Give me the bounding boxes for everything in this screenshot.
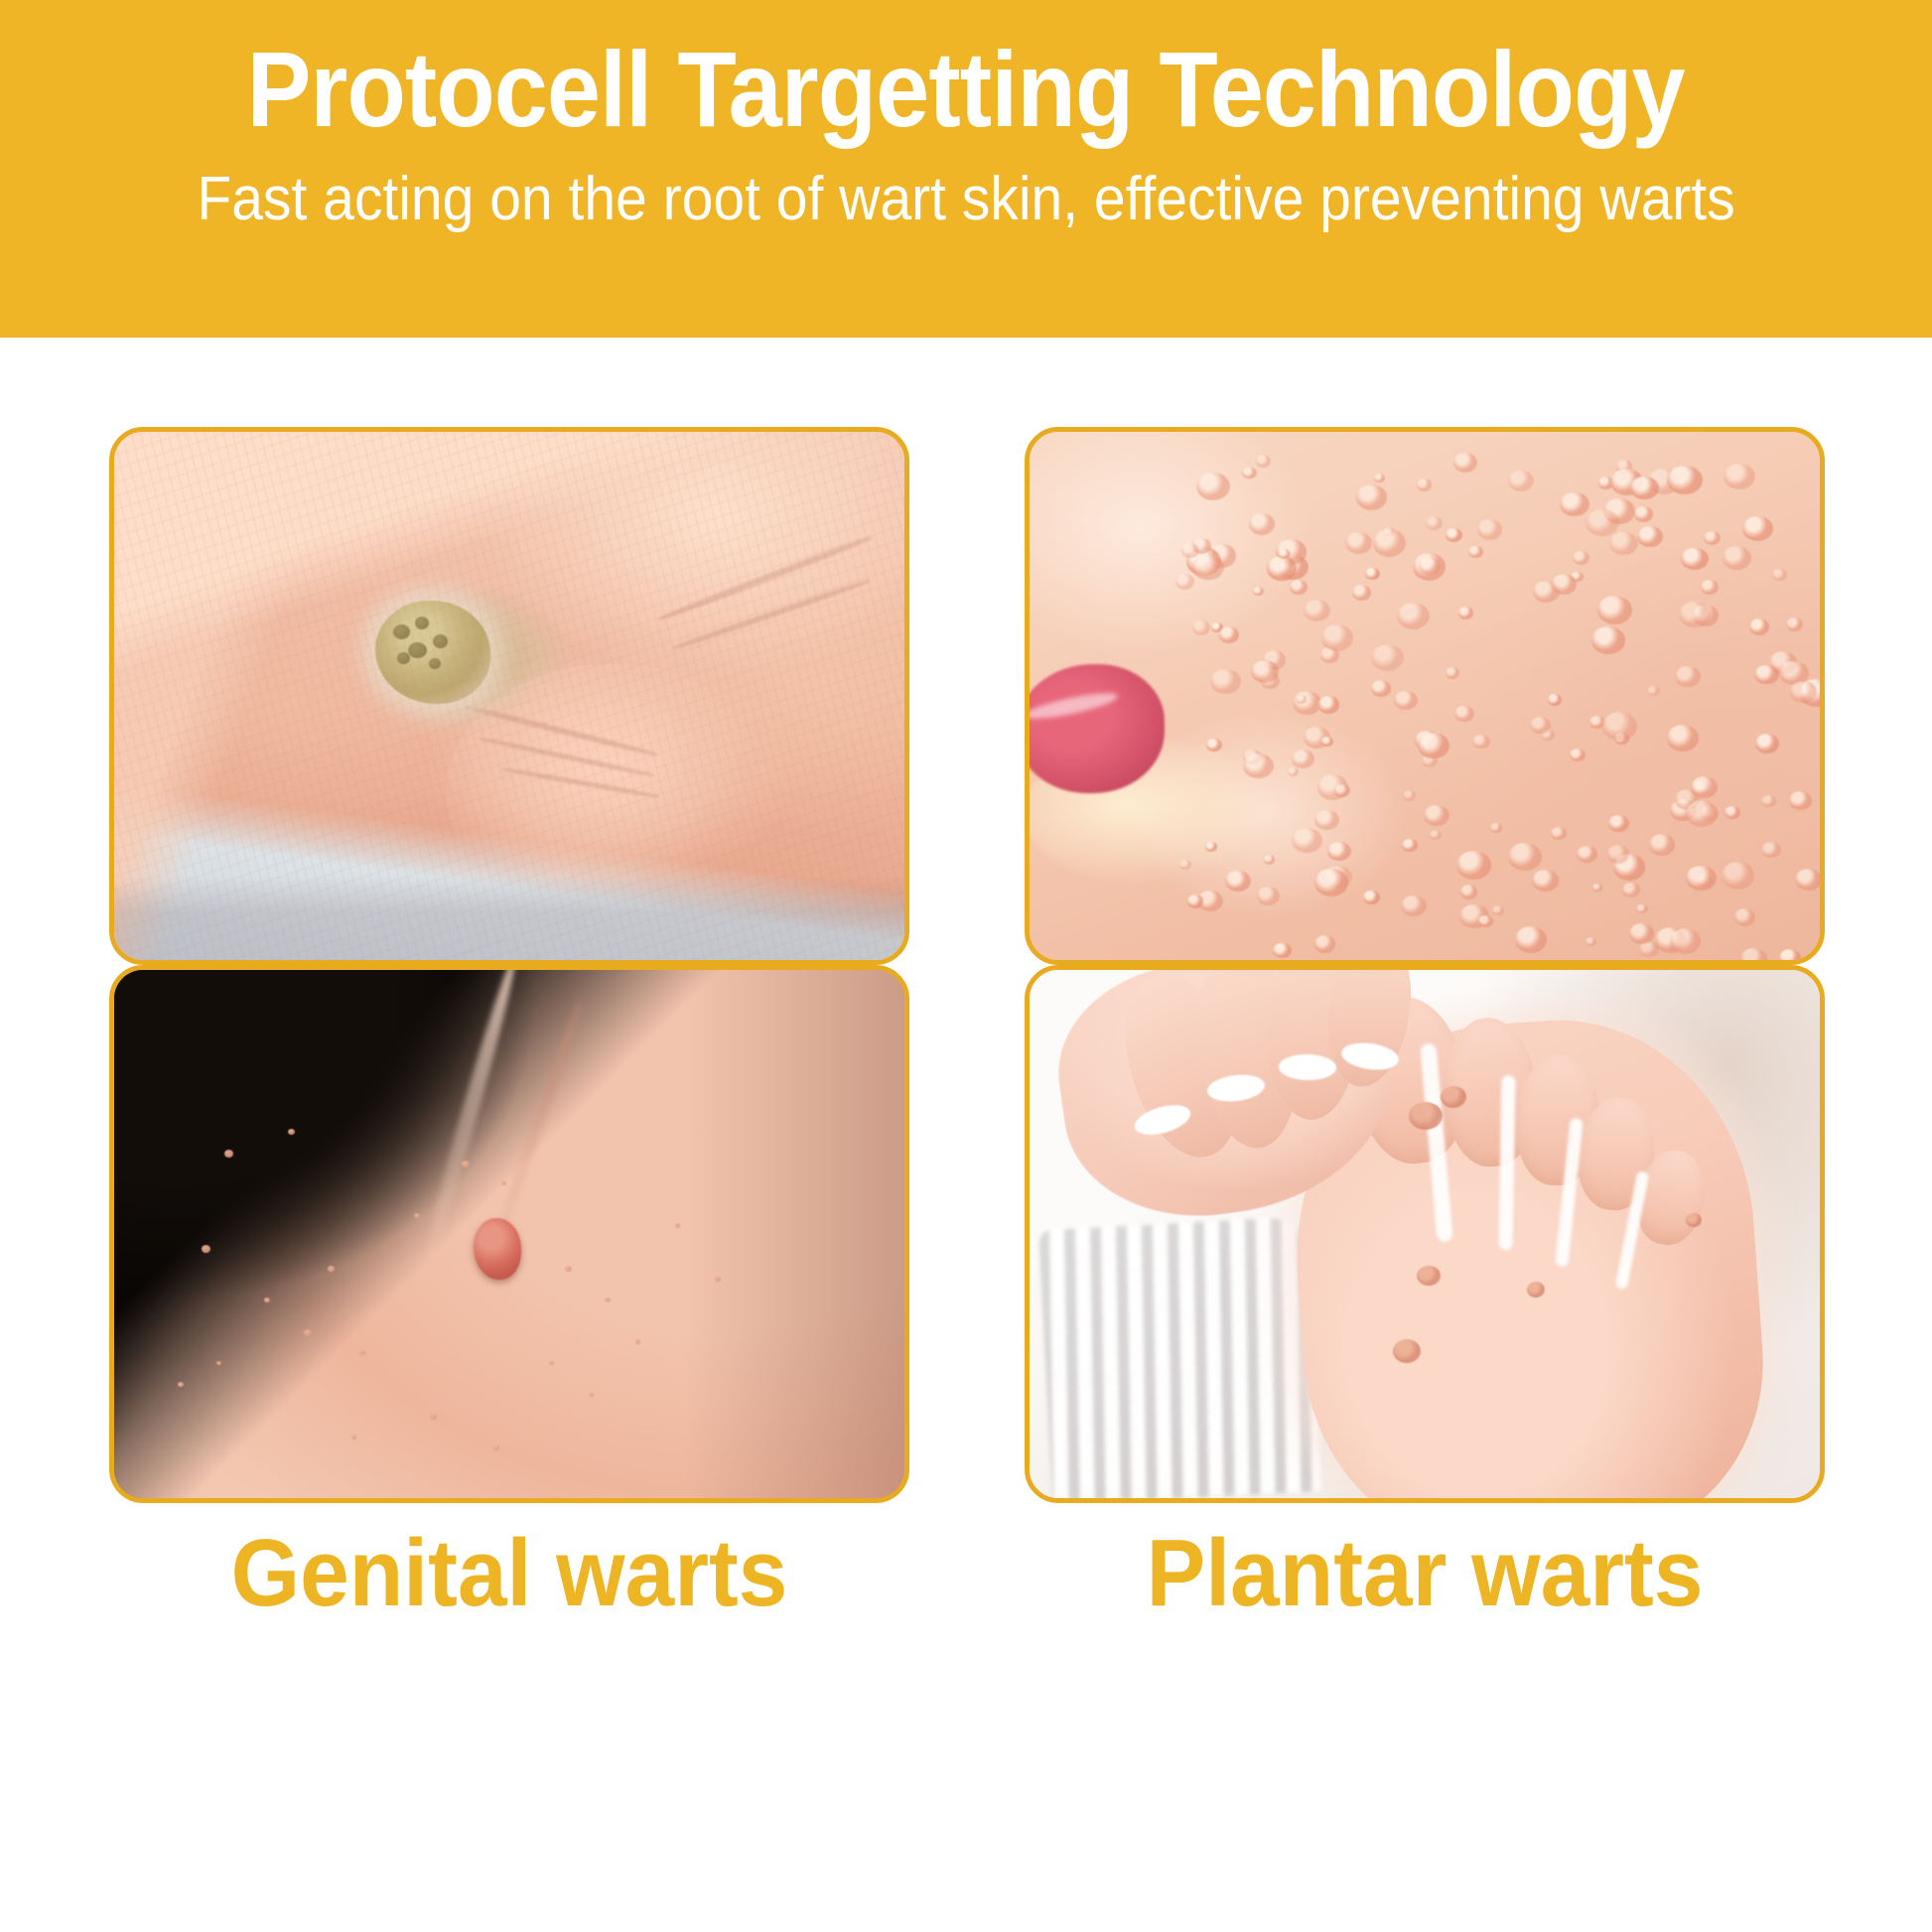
wart-lesion-marker <box>1740 948 1767 960</box>
skin-tag-marker <box>675 1223 680 1228</box>
wart-lesion-marker <box>1345 532 1372 554</box>
wart-lesion-marker <box>1417 1266 1441 1286</box>
wart-lesion-marker <box>1790 681 1816 703</box>
wart-lesion-marker <box>1609 532 1637 555</box>
wart-lesion-marker <box>1446 528 1462 542</box>
wart-lesion-marker <box>1264 855 1275 864</box>
wart-lesion-marker <box>1424 805 1449 826</box>
wart-lesion-marker <box>1418 733 1449 759</box>
wart-lesion-marker <box>1318 696 1339 713</box>
wart-lesion-marker <box>1560 492 1589 517</box>
wart-lesion-marker <box>1508 471 1534 492</box>
wart-lesion-marker <box>1637 526 1664 548</box>
wart-lesion-marker <box>1314 935 1336 953</box>
wart-lesion-marker <box>1636 904 1647 913</box>
wart-lesion-marker <box>1210 669 1241 694</box>
wart-lesion-marker <box>1649 834 1675 855</box>
wart-lesion-marker <box>1586 509 1619 537</box>
wart-lesion-marker <box>1592 884 1602 892</box>
wart-lesion-marker <box>1477 519 1502 539</box>
wart-lesion-marker <box>1670 928 1701 954</box>
wart-lesion-marker <box>1761 795 1776 807</box>
page-title: Protocell Targetting Technology <box>247 32 1685 148</box>
wart-lesion-marker <box>1701 580 1719 595</box>
wart-lesion-marker <box>1249 513 1275 535</box>
wart-lesion-marker <box>1419 557 1441 575</box>
wart-lesion-marker <box>1586 937 1596 946</box>
wart-lesion-marker <box>1257 887 1280 905</box>
skin-tag-marker <box>715 1277 721 1282</box>
lip-region <box>1030 664 1165 793</box>
wart-lesion-marker <box>1426 516 1443 530</box>
wart-lesion-marker <box>1206 739 1222 752</box>
wart-lesion-marker <box>1453 453 1477 473</box>
wart-lesion-marker <box>1570 749 1586 761</box>
wart-lesion-marker <box>1761 842 1781 859</box>
wart-lesion-marker <box>1772 569 1786 581</box>
image-card-plantar-warts[interactable] <box>1025 965 1825 1503</box>
wart-lesion-marker <box>1686 866 1716 891</box>
wart-lesion-marker <box>1734 908 1756 926</box>
wart-lesion-marker <box>1290 580 1308 595</box>
wart-lesion-marker <box>1634 506 1653 522</box>
wart-lesion-marker <box>1397 603 1431 629</box>
photo-common-warts <box>114 432 904 960</box>
wart-lesion-marker <box>1430 830 1442 840</box>
image-card-common-warts[interactable] <box>109 427 909 965</box>
wart-lesion-marker <box>1243 754 1274 778</box>
wart-lesion-marker <box>1667 725 1699 751</box>
wart-lesion-marker <box>1256 455 1272 468</box>
wart-lesion-marker <box>375 601 490 704</box>
wart-lesion-marker <box>1446 667 1459 679</box>
wart-lesion-marker <box>1552 574 1577 594</box>
wart-lesion-marker <box>1175 574 1194 590</box>
wart-lesion-marker <box>1225 871 1251 892</box>
wart-lesion-marker <box>1515 926 1548 953</box>
header-banner: Protocell Targetting Technology Fast act… <box>0 0 1932 338</box>
wart-lesion-marker <box>1267 556 1296 580</box>
wart-lesion-marker <box>1334 784 1350 797</box>
skin-tag-marker <box>605 1298 611 1303</box>
wart-lesion-marker <box>1577 846 1598 864</box>
wart-lesion-marker <box>1478 915 1493 927</box>
wart-lesion-marker <box>1647 686 1660 696</box>
wart-lesion-marker <box>1293 691 1321 715</box>
photo-flat-warts <box>1030 432 1820 960</box>
wart-lesion-marker <box>1458 607 1474 620</box>
wart-lesion-marker <box>1403 790 1417 801</box>
skin-tag-marker <box>288 1129 295 1135</box>
wart-lesion-marker <box>1722 862 1754 889</box>
caption-plantar-warts: Plantar warts <box>1052 1526 1797 1621</box>
wart-lesion-marker <box>1490 823 1502 833</box>
wart-lesion-marker <box>1548 694 1562 706</box>
wart-lesion-marker <box>1591 626 1625 654</box>
wart-lesion-marker <box>1242 468 1257 480</box>
wart-lesion-marker <box>1608 815 1629 832</box>
wart-lesion-marker <box>1402 839 1418 852</box>
wart-lesion-marker <box>1607 845 1630 864</box>
wart-lesion-marker <box>1602 712 1637 741</box>
wart-lesion-marker <box>1219 626 1239 643</box>
wart-type-item-flat: Flat warts <box>1025 427 1825 965</box>
wart-lesion-marker <box>1321 624 1353 650</box>
wart-lesion-marker <box>1492 905 1504 915</box>
wart-lesion-marker <box>1371 644 1405 671</box>
wart-lesion-marker <box>1363 891 1380 904</box>
wart-lesion-marker <box>1749 619 1769 634</box>
wart-lesion-marker <box>1292 828 1322 853</box>
skin-tag-marker <box>565 1266 572 1272</box>
wart-lesion-marker <box>1373 529 1406 556</box>
wart-lesion-marker <box>1456 851 1491 880</box>
wart-lesion-marker <box>1441 1086 1466 1108</box>
wart-lesion-marker <box>1755 734 1779 754</box>
skin-tag-marker <box>178 1382 184 1387</box>
wart-lesion-marker <box>1401 896 1427 916</box>
wart-lesion-marker <box>1273 943 1291 958</box>
wart-lesion-marker <box>1179 860 1191 870</box>
wart-lesion-marker <box>1192 621 1210 635</box>
skin-tag-marker <box>304 1329 312 1336</box>
wart-lesion-marker <box>1374 474 1384 482</box>
wart-lesion-marker <box>1365 568 1380 580</box>
wart-lesion-marker <box>1394 691 1418 710</box>
wart-lesion-marker <box>1278 549 1290 559</box>
wart-lesion-marker <box>1352 585 1371 601</box>
caption-genital-warts: Genital warts <box>137 1526 882 1621</box>
wart-lesion-marker <box>1468 546 1483 558</box>
wart-lesion-marker <box>1205 842 1217 852</box>
wart-lesion-marker <box>1754 665 1778 685</box>
wart-lesion-marker <box>1454 706 1474 722</box>
wart-lesion-marker <box>1327 842 1350 861</box>
wart-lesion-marker <box>1532 870 1559 892</box>
wart-lesion-marker <box>1742 516 1773 541</box>
wart-lesion-marker <box>1795 869 1820 891</box>
wart-lesion-marker <box>1288 767 1299 776</box>
wart-lesion-marker <box>1686 1213 1702 1227</box>
wart-lesion-marker <box>1314 869 1348 897</box>
wart-lesion-marker <box>1630 477 1659 500</box>
wart-lesion-marker <box>1723 546 1751 570</box>
wart-lesion-marker <box>1304 600 1330 621</box>
skin-tag-marker <box>328 1266 335 1272</box>
wart-lesion-marker <box>1704 531 1721 545</box>
skin-tag-marker <box>549 1361 554 1366</box>
wart-type-item-plantar: Plantar warts <box>1025 965 1825 1503</box>
wart-lesion-marker <box>1181 543 1199 558</box>
image-card-genital-warts[interactable] <box>109 965 909 1503</box>
skin-tag-marker <box>202 1245 210 1253</box>
infographic-page: Protocell Targetting Technology Fast act… <box>0 0 1932 1932</box>
wart-lesion-marker <box>1551 827 1567 840</box>
skin-tag-marker <box>589 1393 594 1398</box>
skin-tag-marker <box>462 1161 470 1168</box>
wart-lesion-marker <box>1192 555 1223 581</box>
wart-lesion-marker <box>1681 548 1709 571</box>
wart-lesion-marker <box>1314 810 1339 830</box>
wart-type-item-genital: Genital warts <box>109 965 909 1503</box>
wart-lesion-marker <box>1321 737 1333 747</box>
wart-lesion-marker <box>1253 587 1265 597</box>
skin-tag-marker <box>351 1435 356 1440</box>
wart-lesion-marker <box>1409 1102 1443 1130</box>
wart-lesion-marker <box>1196 473 1230 500</box>
wart-lesion-marker <box>1460 885 1478 899</box>
wart-lesion-marker <box>1675 666 1700 687</box>
image-card-flat-warts[interactable] <box>1025 427 1825 965</box>
wart-lesion-marker <box>1371 680 1391 697</box>
wart-lesion-marker <box>1573 551 1589 565</box>
wart-lesion-marker <box>1725 806 1740 819</box>
wart-lesion-marker <box>1417 479 1432 490</box>
wart-lesion-marker <box>1472 735 1490 750</box>
wart-lesion-marker <box>1686 800 1719 827</box>
wart-lesion-marker <box>1356 484 1388 510</box>
wart-lesion-marker <box>1629 923 1655 944</box>
wart-lesion-marker <box>1786 618 1803 631</box>
wart-lesion-marker <box>1789 791 1812 810</box>
photo-genital-warts <box>114 970 904 1498</box>
wart-lesion-marker <box>1292 750 1314 768</box>
wart-lesion-marker <box>1597 596 1632 624</box>
wart-lesion-marker <box>1622 883 1640 897</box>
wart-lesion-marker <box>1667 466 1702 494</box>
wart-type-item-common: Common warts <box>109 427 909 965</box>
wart-lesion-marker <box>1691 776 1718 798</box>
page-subtitle: Fast acting on the root of wart skin, ef… <box>197 166 1734 233</box>
wart-type-grid: Common warts Flat warts <box>109 427 1825 1713</box>
wart-lesion-marker <box>1508 843 1542 871</box>
wart-lesion-marker <box>1724 464 1755 489</box>
wart-lesion-marker <box>1779 949 1801 960</box>
wart-lesion-marker <box>474 1218 521 1280</box>
photo-plantar-warts <box>1030 970 1820 1498</box>
